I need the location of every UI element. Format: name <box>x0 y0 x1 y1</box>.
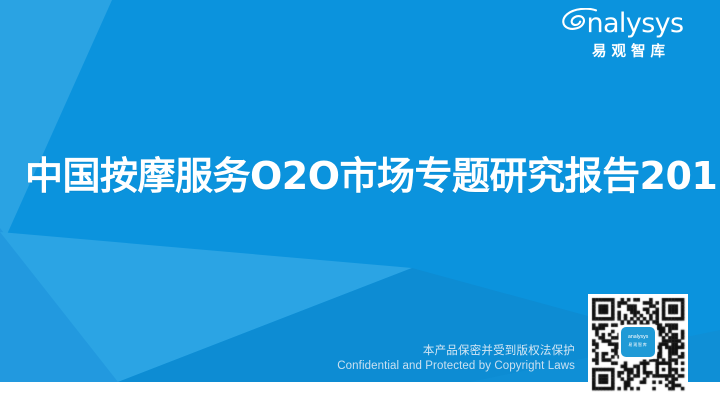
logo-chinese-name: 易观智库 <box>554 40 702 61</box>
copyright-notice-chinese: 本产品保密并受到版权法保护 <box>315 342 575 358</box>
presentation-title-slide: nalysys 易观智库 中国按摩服务O2O市场专题研究报告2015 本产品保密… <box>0 0 720 405</box>
brand-logo: nalysys 易观智库 <box>554 8 702 62</box>
copyright-notice-english: Confidential and Protected by Copyright … <box>315 358 575 375</box>
logo-wordmark: nalysys <box>572 9 683 39</box>
copyright-notice: 本产品保密并受到版权法保护 Confidential and Protected… <box>315 342 575 375</box>
page-title: 中国按摩服务O2O市场专题研究报告2015 <box>25 154 720 198</box>
qr-code[interactable]: analysys 易观智库 <box>588 294 688 394</box>
qr-center-logo-badge: analysys 易观智库 <box>621 327 655 357</box>
logo-mark: nalysys <box>554 8 702 38</box>
qr-badge-chinese: 易观智库 <box>621 342 655 348</box>
qr-badge-wordmark: analysys <box>621 334 655 340</box>
